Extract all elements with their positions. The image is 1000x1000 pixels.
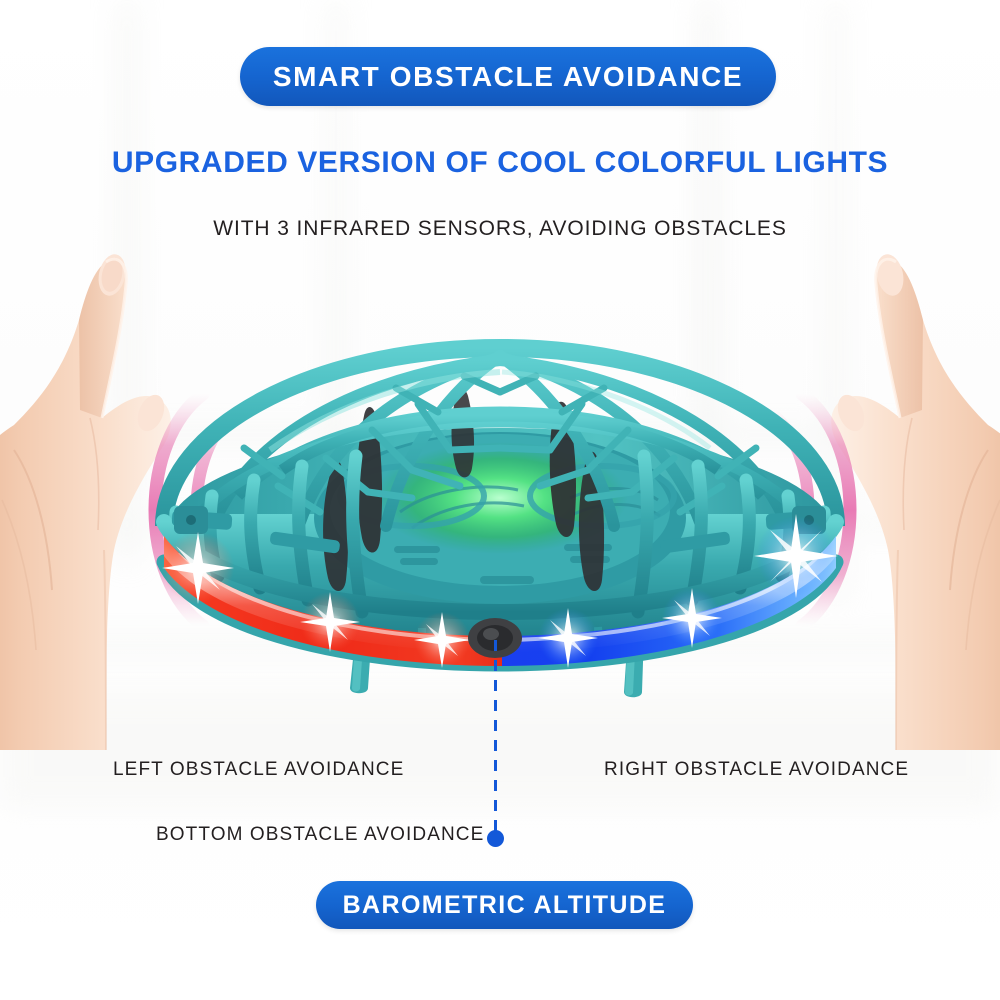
callout-left-obstacle-avoidance: LEFT OBSTACLE AVOIDANCE — [113, 759, 404, 781]
headline-badge: SMART OBSTACLE AVOIDANCE — [240, 47, 776, 106]
callout-bottom-obstacle-avoidance: BOTTOM OBSTACLE AVOIDANCE — [156, 824, 484, 846]
callout-dashed-line-icon — [494, 640, 497, 836]
callout-endpoint-dot-icon — [487, 830, 504, 847]
subtitle-primary: UPGRADED VERSION OF COOL COLORFUL LIGHTS — [0, 146, 1000, 180]
mini-ufo-drone — [150, 300, 850, 700]
footer-badge: BAROMETRIC ALTITUDE — [316, 881, 693, 929]
subtitle-secondary: WITH 3 INFRARED SENSORS, AVOIDING OBSTAC… — [0, 217, 1000, 241]
callout-right-obstacle-avoidance: RIGHT OBSTACLE AVOIDANCE — [604, 759, 909, 781]
product-marketing-image: SMART OBSTACLE AVOIDANCE UPGRADED VERSIO… — [0, 0, 1000, 1000]
